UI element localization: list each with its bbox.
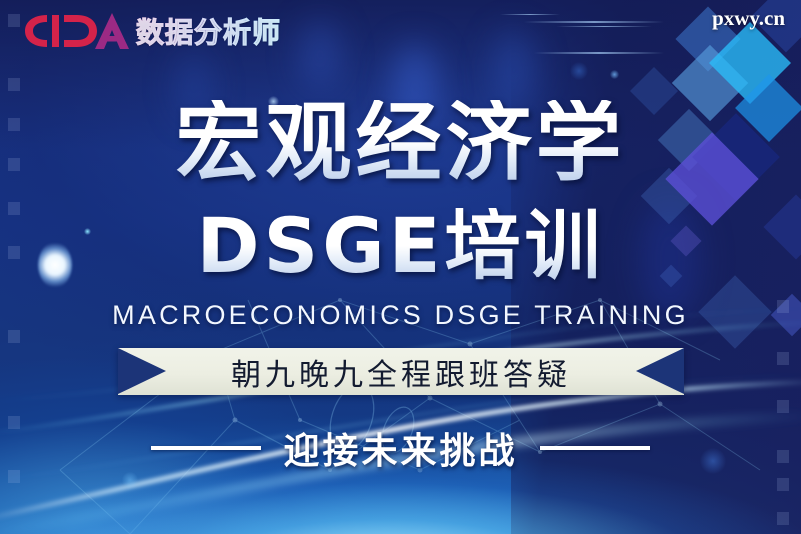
brand-name-cn: 数据分析师 [136,11,281,51]
cida-logo-icon [22,10,130,52]
service-ribbon: 朝九晚九全程跟班答疑 [118,348,684,395]
poster-subtitle-english: MACROECONOMICS DSGE TRAINING [0,300,801,331]
tagline-rule-right [540,446,650,450]
poster-content: 数据分析师 pxwy.cn 宏观经济学 DSGE培训 MACROECONOMIC… [0,0,801,534]
poster-tagline: 迎接未来挑战 [0,422,801,474]
poster-title-line2: DSGE培训 [0,208,801,284]
ribbon-label: 朝九晚九全程跟班答疑 [118,348,684,395]
brand-logo[interactable]: 数据分析师 [22,10,281,52]
tagline-label: 迎接未来挑战 [283,422,517,474]
poster-canvas: 数据分析师 pxwy.cn 宏观经济学 DSGE培训 MACROECONOMIC… [0,0,801,534]
tagline-rule-left [151,446,261,450]
site-watermark: pxwy.cn [712,6,785,31]
poster-title-line1: 宏观经济学 [0,100,801,186]
